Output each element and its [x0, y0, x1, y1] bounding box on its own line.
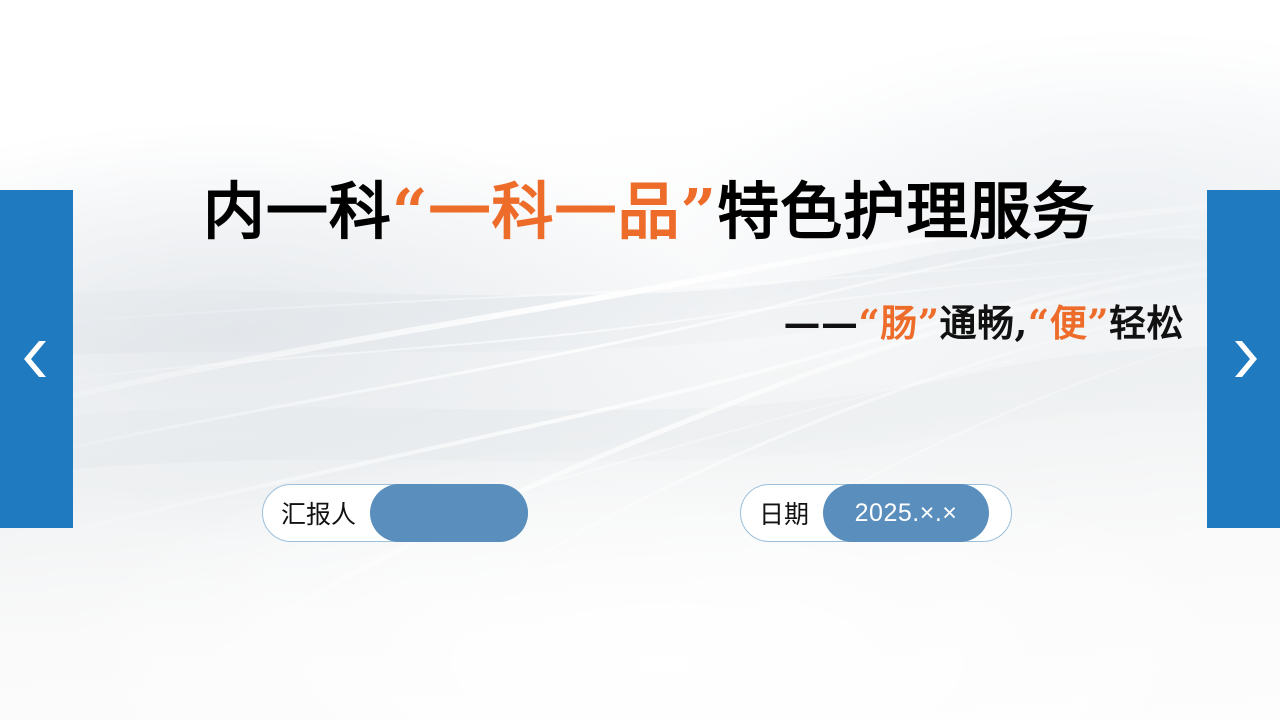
- title-part-1: 内一科: [203, 175, 392, 248]
- field-date[interactable]: 日期 2025.×.×: [740, 484, 1012, 542]
- field-presenter[interactable]: 汇报人: [262, 484, 528, 542]
- presentation-slide: 内一科“一科一品”特色护理服务 ——“肠”通畅,“便”轻松 汇报人 日期 202…: [0, 0, 1280, 720]
- slide-title: 内一科“一科一品”特色护理服务: [203, 178, 1095, 246]
- field-date-value[interactable]: 2025.×.×: [823, 484, 989, 542]
- field-date-label: 日期: [741, 485, 823, 541]
- chevron-left-icon: [22, 338, 52, 380]
- subtitle-text-2: 轻松: [1109, 301, 1184, 345]
- subtitle-dash: ——: [783, 301, 858, 345]
- title-part-2: 特色护理服务: [717, 175, 1095, 248]
- slide-subtitle: ——“肠”通畅,“便”轻松: [783, 302, 1184, 345]
- subtitle-block: ——“肠”通畅,“便”轻松: [783, 302, 1184, 345]
- field-presenter-value[interactable]: [370, 484, 528, 542]
- subtitle-text-1: 通畅,: [940, 301, 1028, 345]
- title-accent: “一科一品”: [392, 175, 717, 248]
- field-presenter-label: 汇报人: [263, 485, 370, 541]
- subtitle-accent-1: “肠”: [858, 301, 939, 345]
- chevron-right-icon: [1229, 338, 1259, 380]
- background-abstract-curves: [0, 0, 1280, 720]
- subtitle-accent-2: “便”: [1028, 301, 1109, 345]
- title-block: 内一科“一科一品”特色护理服务: [0, 178, 1280, 246]
